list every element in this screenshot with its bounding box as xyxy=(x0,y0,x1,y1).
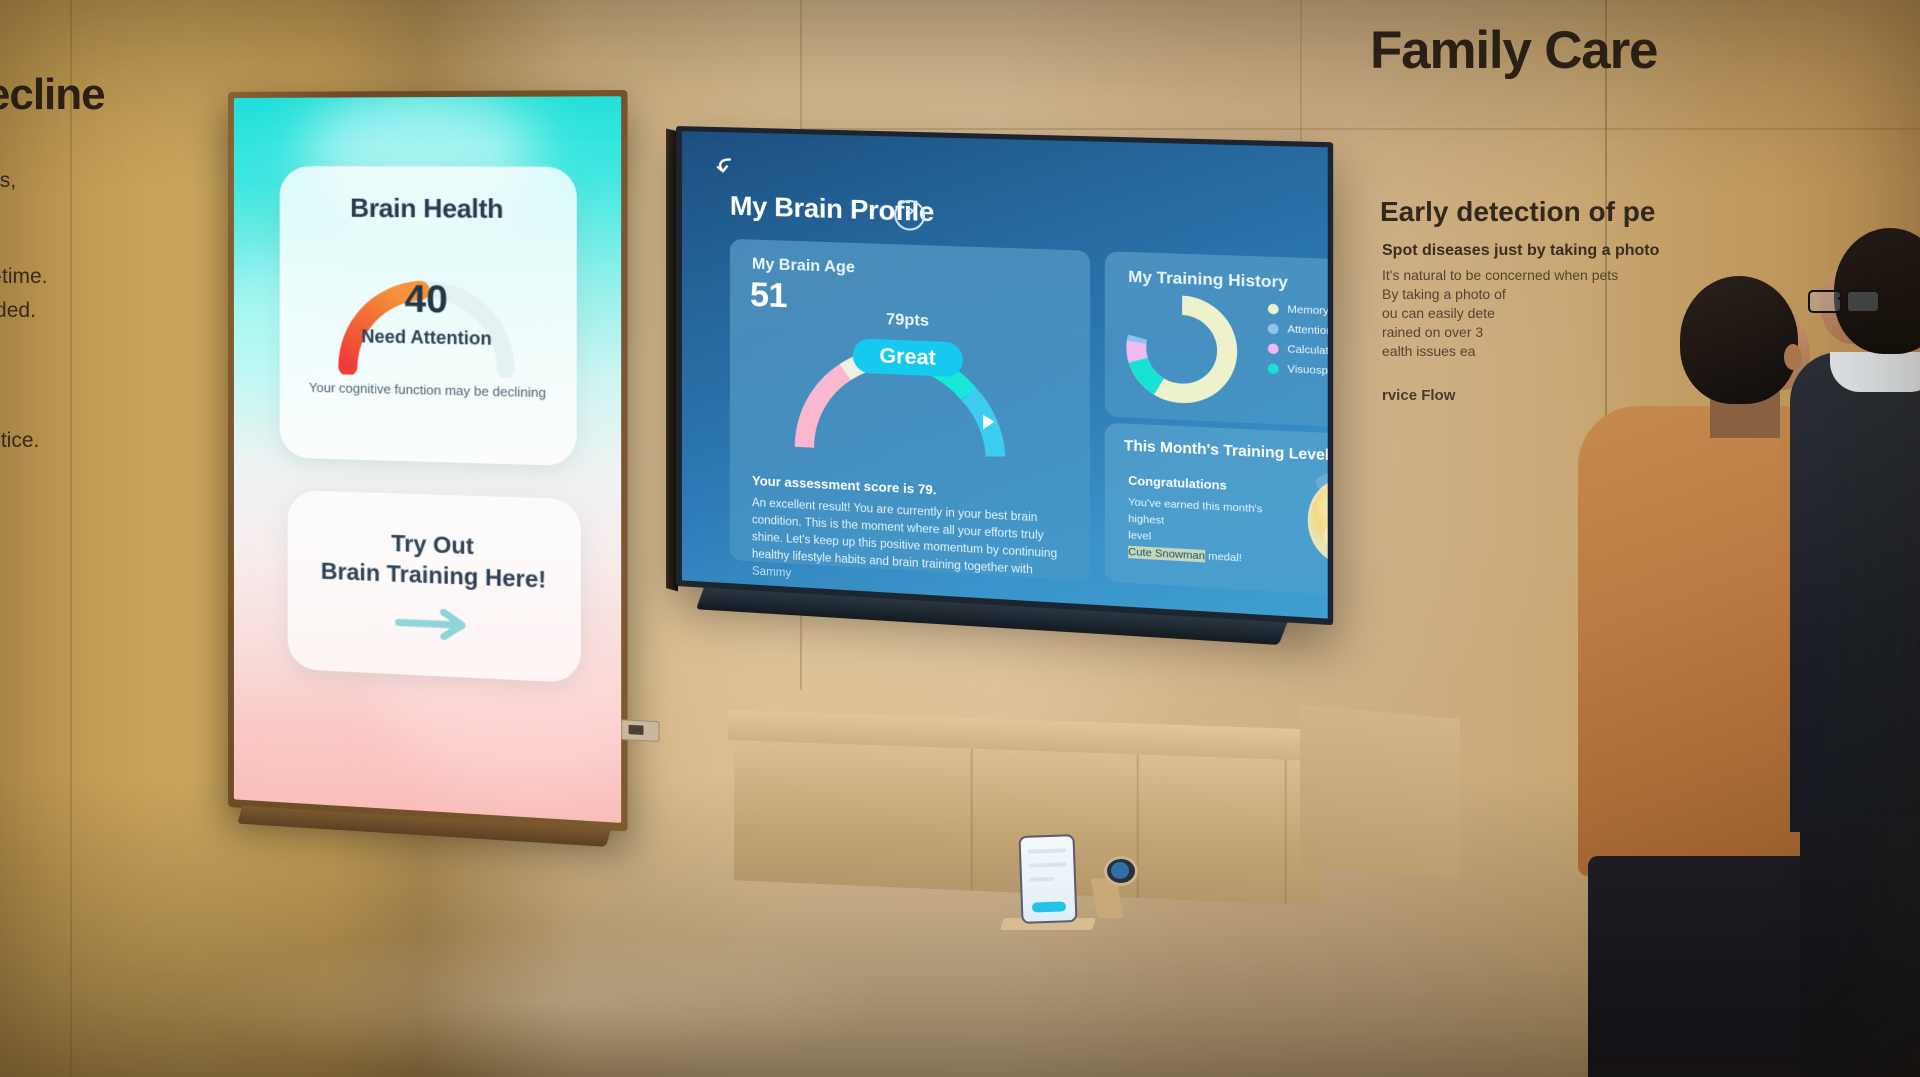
shelf-divider xyxy=(971,749,973,891)
assessment-signature: Sammy xyxy=(752,565,791,579)
brain-health-card[interactable]: Brain Health 40 xyxy=(280,166,577,466)
medal-tail: medal! xyxy=(1205,550,1242,565)
eyeglass-lens-right xyxy=(1846,290,1880,313)
assessment-body: An excellent result! You are currently i… xyxy=(752,495,1075,600)
shelf-right-section xyxy=(1300,705,1460,879)
phone-on-stand[interactable] xyxy=(1018,834,1077,924)
vertical-kiosk-display[interactable]: Brain Health 40 xyxy=(228,90,628,832)
visitor-collar xyxy=(1830,352,1920,392)
visitor-background xyxy=(1790,228,1920,1077)
left-wall-line: real-time. xyxy=(0,262,200,292)
eyeglasses-icon xyxy=(1808,290,1886,310)
assessment-body-text: An excellent result! You are currently i… xyxy=(752,497,1057,576)
left-wall-line: ain xyxy=(0,392,200,422)
my-brain-age-panel: My Brain Age 51 79pts Great Your assessm… xyxy=(730,239,1090,581)
left-wall-line: typos, xyxy=(0,166,200,196)
training-level-body: You've earned this month's highest level… xyxy=(1128,494,1268,568)
brain-health-note: Your cognitive function may be declining xyxy=(294,379,562,400)
kiosk-screen[interactable]: Brain Health 40 xyxy=(234,96,621,823)
assessment-heading: Your assessment score is 79. xyxy=(752,473,937,498)
left-wall-line: needed. xyxy=(0,296,200,326)
right-wall-headline: Family Care xyxy=(1370,20,1920,81)
try-brain-training-card[interactable]: Try Out Brain Training Here! xyxy=(288,490,581,683)
legend-swatch-visuospatial xyxy=(1268,363,1279,374)
left-wall-line: one xyxy=(0,228,200,258)
training-level-line-3: level xyxy=(1128,529,1151,543)
smartwatch-on-stand[interactable] xyxy=(1104,856,1138,886)
snowman-medal-glyph xyxy=(1290,460,1328,575)
shelf-divider xyxy=(1285,760,1287,905)
congratulations-label: Congratulations xyxy=(1128,473,1227,492)
wall-outlet xyxy=(621,719,659,742)
question-mark-icon[interactable]: ? xyxy=(894,200,925,231)
arrow-right-icon[interactable] xyxy=(288,603,581,652)
arrow-right-glyph xyxy=(394,607,470,641)
phone-frame xyxy=(1018,834,1077,924)
brain-health-score: 40 xyxy=(280,277,577,325)
exhibit-photo-scene: decline typos, one real-time. needed. ai… xyxy=(0,0,1920,1077)
medal-name-highlight: Cute Snowman xyxy=(1128,546,1205,563)
legend-swatch-attention xyxy=(1268,323,1279,334)
legend-label: Visuospatial xyxy=(1287,362,1327,379)
my-training-history-panel: My Training History Memory 73.1% xyxy=(1105,251,1328,430)
back-arrow-icon[interactable] xyxy=(714,154,740,181)
training-level-panel: This Month's Training Level Congratulati… xyxy=(1105,423,1328,600)
brain-health-title: Brain Health xyxy=(280,192,577,225)
watch-dial xyxy=(1111,862,1129,879)
back-arrow-glyph xyxy=(714,154,740,181)
legend-row: Visuospatial 12% xyxy=(1268,358,1328,384)
training-history-donut-chart xyxy=(1122,289,1242,410)
legend-label: Calculation xyxy=(1287,343,1327,360)
visitor-legs xyxy=(1800,818,1920,1077)
left-wall-headline: decline xyxy=(0,70,200,120)
visitor-jacket xyxy=(1790,352,1920,832)
legend-swatch-calculation xyxy=(1268,343,1279,354)
training-history-legend: Memory 73.1% Attention 5.6% Calculation … xyxy=(1268,298,1328,383)
legend-label: Memory xyxy=(1287,303,1327,319)
right-wall-subhead: Early detection of pe xyxy=(1380,196,1920,228)
tv-screen[interactable]: My Brain Profile ? My Brain Age 51 79pts xyxy=(682,131,1328,618)
legend-label: Attention xyxy=(1287,323,1327,339)
training-level-line-2: highest xyxy=(1128,513,1164,527)
left-wall-line: practice. xyxy=(0,426,200,456)
left-wall-copy: decline typos, one real-time. needed. ai… xyxy=(0,70,200,460)
visitor-head xyxy=(1680,276,1798,404)
floor-light-pool xyxy=(190,927,890,1077)
eyeglass-lens-left xyxy=(1808,290,1842,313)
wall-mounted-tv[interactable]: My Brain Profile ? My Brain Age 51 79pts xyxy=(676,126,1333,625)
training-level-line-1: You've earned this month's xyxy=(1128,496,1262,515)
brain-age-label: My Brain Age xyxy=(752,256,855,278)
snowman-medal-icon xyxy=(1290,460,1328,575)
assessment-badge: Great xyxy=(853,338,963,377)
legend-swatch-memory xyxy=(1268,303,1279,314)
